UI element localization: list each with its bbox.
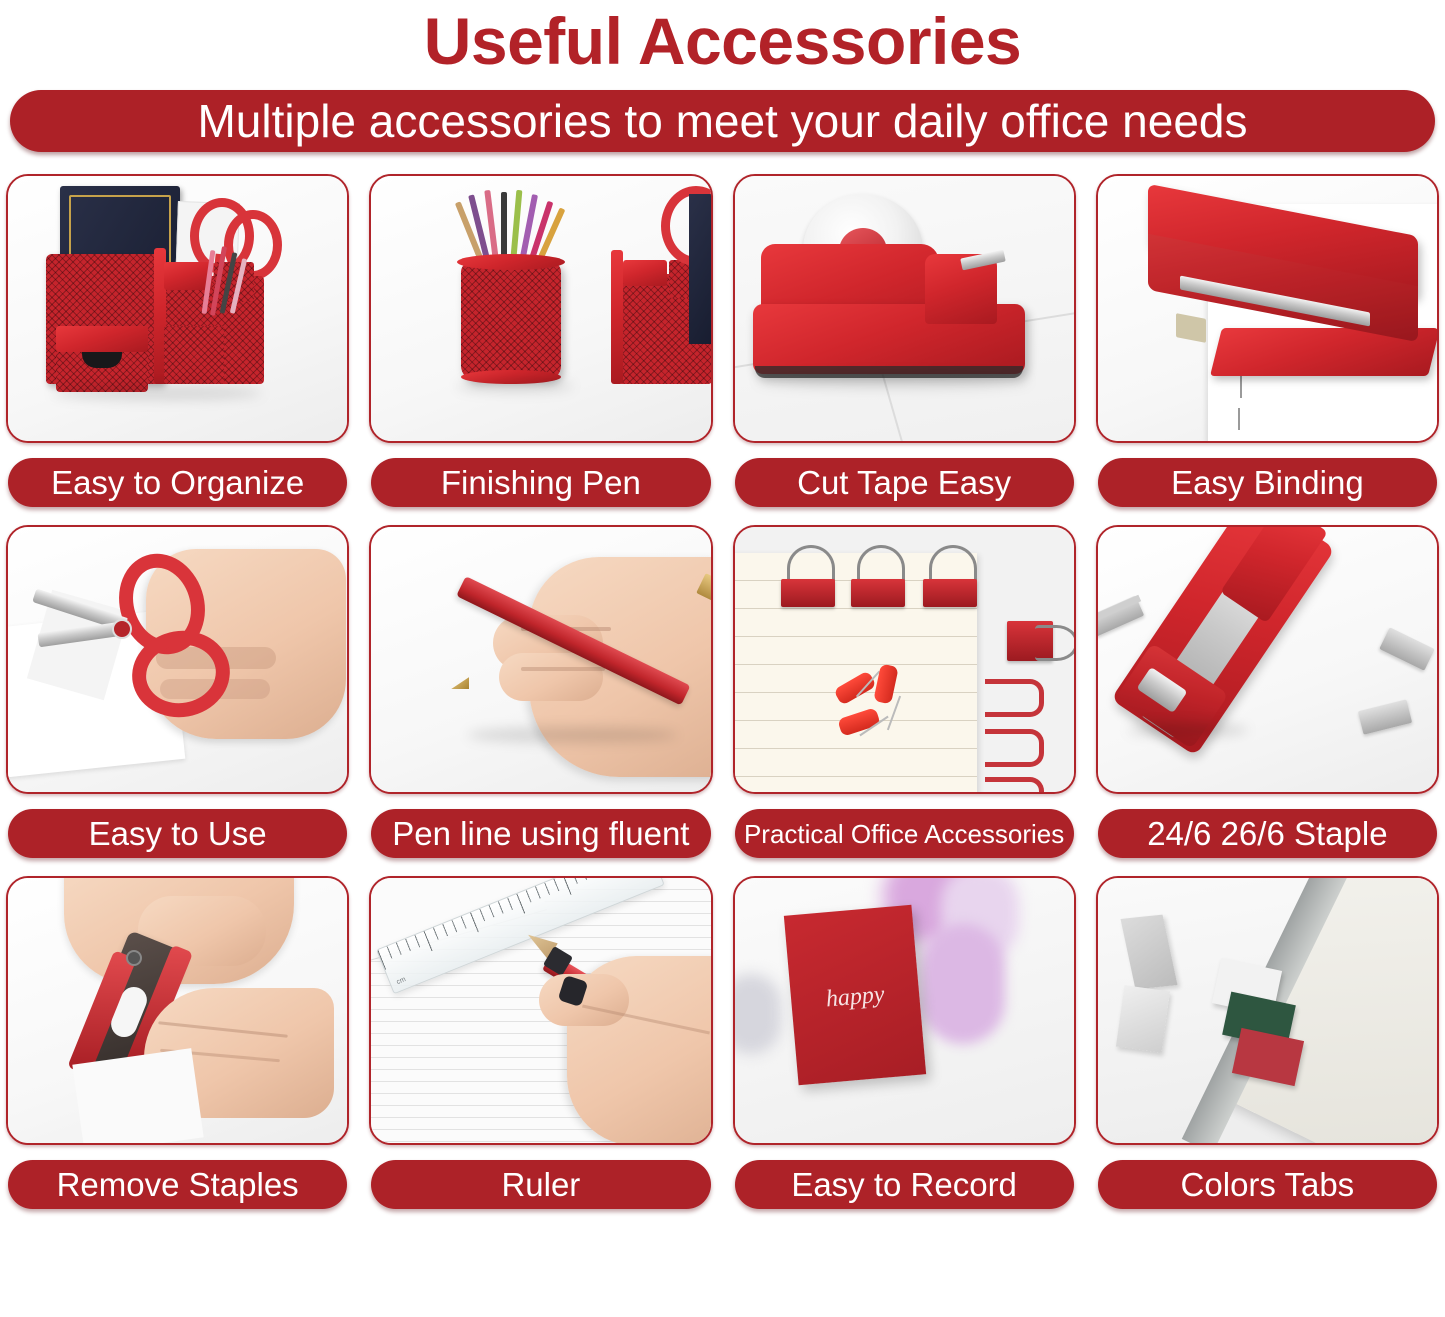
feature-image-stapler-binding [1096, 174, 1439, 443]
feature-cell-easy-to-record: happy Easy to Record [735, 876, 1074, 1209]
caption-cut-tape-easy: Cut Tape Easy [735, 458, 1074, 507]
feature-cell-remove-staples: Remove Staples [8, 876, 347, 1209]
feature-image-pen-hand [369, 525, 712, 794]
feature-image-desk-organizer: HOLY BIBLE [6, 174, 349, 443]
feature-image-ruler-pencil: cm [369, 876, 712, 1145]
infographic-page: Useful Accessories Multiple accessories … [0, 0, 1445, 1317]
subtitle-banner-wrap: Multiple accessories to meet your daily … [0, 90, 1445, 152]
caption-finishing-pen: Finishing Pen [371, 458, 710, 507]
feature-image-staple-remover [6, 876, 349, 1145]
caption-easy-binding: Easy Binding [1098, 458, 1437, 507]
feature-cell-colors-tabs: Colors Tabs [1098, 876, 1437, 1209]
feature-image-pen-holder [369, 174, 712, 443]
feature-cell-cut-tape-easy: Cut Tape Easy [735, 174, 1074, 507]
subtitle-banner: Multiple accessories to meet your daily … [10, 90, 1435, 152]
caption-easy-to-record: Easy to Record [735, 1160, 1074, 1209]
feature-image-index-tabs [1096, 876, 1439, 1145]
page-title: Useful Accessories [0, 0, 1445, 84]
feature-image-tape-dispenser [733, 174, 1076, 443]
feature-cell-easy-to-use: Easy to Use [8, 525, 347, 858]
feature-image-scissors-hand [6, 525, 349, 794]
feature-cell-finishing-pen: Finishing Pen [371, 174, 710, 507]
caption-easy-to-use: Easy to Use [8, 809, 347, 858]
card-text-happy: happy [790, 978, 920, 1016]
caption-practical-office: Practical Office Accessories [735, 809, 1074, 858]
feature-cell-staple-sizes: 24/6 26/6 Staple [1098, 525, 1437, 858]
caption-ruler: Ruler [371, 1160, 710, 1209]
feature-cell-pen-line-fluent: Pen line using fluent [371, 525, 710, 858]
feature-image-stapler-staples [1096, 525, 1439, 794]
caption-staple-sizes: 24/6 26/6 Staple [1098, 809, 1437, 858]
feature-cell-easy-to-organize: HOLY BIBLE [8, 174, 347, 507]
feature-image-happy-card: happy [733, 876, 1076, 1145]
caption-remove-staples: Remove Staples [8, 1160, 347, 1209]
caption-colors-tabs: Colors Tabs [1098, 1160, 1437, 1209]
caption-pen-line-fluent: Pen line using fluent [371, 809, 710, 858]
feature-cell-easy-binding: Easy Binding [1098, 174, 1437, 507]
caption-easy-to-organize: Easy to Organize [8, 458, 347, 507]
feature-image-clips-pins [733, 525, 1076, 794]
feature-cell-practical-office: Practical Office Accessories [735, 525, 1074, 858]
feature-cell-ruler: cm Ruler [371, 876, 710, 1209]
feature-grid: HOLY BIBLE [0, 174, 1445, 1209]
